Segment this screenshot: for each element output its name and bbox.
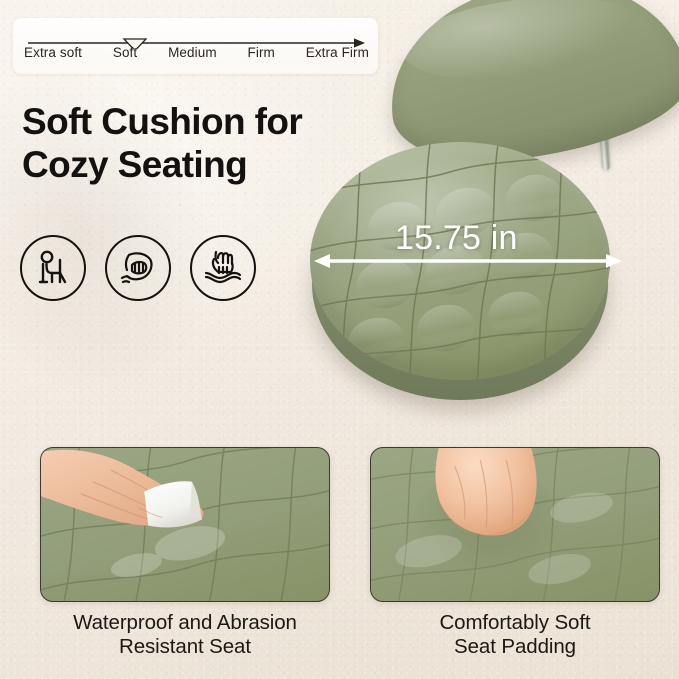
hand-pressing-cushion-icon bbox=[190, 235, 256, 301]
soft-padding-caption: Comfortably Soft Seat Padding bbox=[370, 611, 660, 659]
hand-wiping-cloth-icon bbox=[105, 235, 171, 301]
waterproof-caption-line-1: Waterproof and Abrasion bbox=[40, 611, 330, 635]
soft-padding-panel: Comfortably Soft Seat Padding bbox=[370, 447, 660, 659]
soft-padding-caption-line-2: Seat Padding bbox=[370, 635, 660, 659]
firmness-level-extra-soft[interactable]: Extra soft bbox=[23, 45, 83, 60]
firmness-level-firm[interactable]: Firm bbox=[247, 45, 276, 60]
waterproof-caption-line-2: Resistant Seat bbox=[40, 635, 330, 659]
waterproof-panel: Waterproof and Abrasion Resistant Seat bbox=[40, 447, 330, 659]
hand-wiping-seat-photo-icon bbox=[41, 448, 329, 602]
fist-pressing-seat-photo-icon bbox=[371, 448, 659, 602]
round-seat-cushion bbox=[310, 142, 610, 404]
dimension-label: 15.75 in bbox=[395, 219, 518, 258]
soft-padding-caption-line-1: Comfortably Soft bbox=[370, 611, 660, 635]
person-sitting-on-chair-icon bbox=[20, 235, 86, 301]
waterproof-caption: Waterproof and Abrasion Resistant Seat bbox=[40, 611, 330, 659]
waterproof-photo bbox=[40, 447, 330, 602]
feature-icon-row bbox=[20, 235, 256, 301]
product-photo: 15.75 in bbox=[300, 0, 679, 435]
firmness-level-soft[interactable]: Soft bbox=[112, 45, 138, 60]
firmness-level-medium[interactable]: Medium bbox=[167, 45, 218, 60]
soft-padding-photo bbox=[370, 447, 660, 602]
